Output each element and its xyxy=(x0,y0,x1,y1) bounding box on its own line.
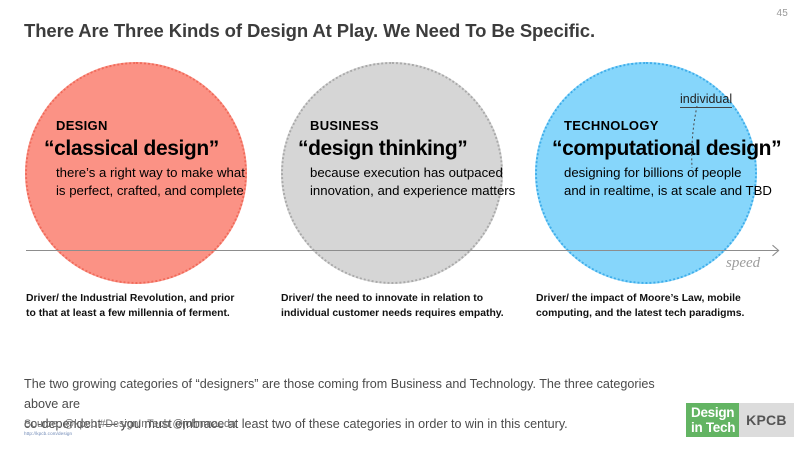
summary-line-1: The two growing categories of “designers… xyxy=(24,374,669,414)
source-credit: Source: @kpcb #DesignInTech @johnmaeda xyxy=(24,418,236,430)
category-kicker-design: DESIGN xyxy=(56,118,284,133)
driver-caption-design: Driver/ the Industrial Revolution, and p… xyxy=(26,292,276,321)
category-group-technology: TECHNOLOGY “computational design” design… xyxy=(552,118,800,199)
axis-label-speed: speed xyxy=(726,255,760,272)
driver-line-2-business: individual customer needs requires empat… xyxy=(281,307,531,322)
driver-line-1-business: Driver/ the need to innovate in relation… xyxy=(281,292,531,307)
logo-line-2: in Tech xyxy=(691,420,735,435)
speed-axis-line xyxy=(26,250,774,251)
category-group-business: BUSINESS “design thinking” because execu… xyxy=(298,118,538,199)
category-headline-design: “classical design” xyxy=(44,137,284,161)
logo-kpcb: KPCB xyxy=(739,403,793,437)
category-headline-technology: “computational design” xyxy=(552,137,800,161)
logo-line-1: Design xyxy=(691,405,735,420)
logo-design-in-tech: Design in Tech xyxy=(686,403,739,437)
callout-label-individual: individual xyxy=(680,92,732,108)
logo-lockup: Design in Tech KPCB xyxy=(686,403,794,437)
arrow-right-icon xyxy=(766,244,780,257)
category-headline-business: “design thinking” xyxy=(298,137,538,161)
category-body-line-1-business: because execution has outpaced xyxy=(310,164,538,182)
driver-line-2-design: to that at least a few millennia of ferm… xyxy=(26,307,276,322)
driver-caption-business: Driver/ the need to innovate in relation… xyxy=(281,292,531,321)
category-body-line-2-technology: and in realtime, is at scale and TBD xyxy=(564,182,800,200)
category-body-line-2-business: innovation, and experience matters xyxy=(310,182,538,200)
source-url-link[interactable]: http://kpcb.com/design xyxy=(24,431,72,436)
category-kicker-technology: TECHNOLOGY xyxy=(564,118,800,133)
driver-line-1-design: Driver/ the Industrial Revolution, and p… xyxy=(26,292,276,307)
driver-caption-technology: Driver/ the impact of Moore’s Law, mobil… xyxy=(536,292,786,321)
page-number: 45 xyxy=(776,8,788,19)
page-title: There Are Three Kinds of Design At Play.… xyxy=(24,20,595,42)
driver-line-1-technology: Driver/ the impact of Moore’s Law, mobil… xyxy=(536,292,786,307)
slide-canvas: 45 There Are Three Kinds of Design At Pl… xyxy=(0,0,800,450)
category-kicker-business: BUSINESS xyxy=(310,118,538,133)
category-body-line-1-design: there’s a right way to make what xyxy=(56,164,284,182)
category-body-line-2-design: is perfect, crafted, and complete xyxy=(56,182,284,200)
driver-line-2-technology: computing, and the latest tech paradigms… xyxy=(536,307,786,322)
category-body-line-1-technology: designing for billions of people xyxy=(564,164,800,182)
category-group-design: DESIGN “classical design” there’s a righ… xyxy=(44,118,284,199)
